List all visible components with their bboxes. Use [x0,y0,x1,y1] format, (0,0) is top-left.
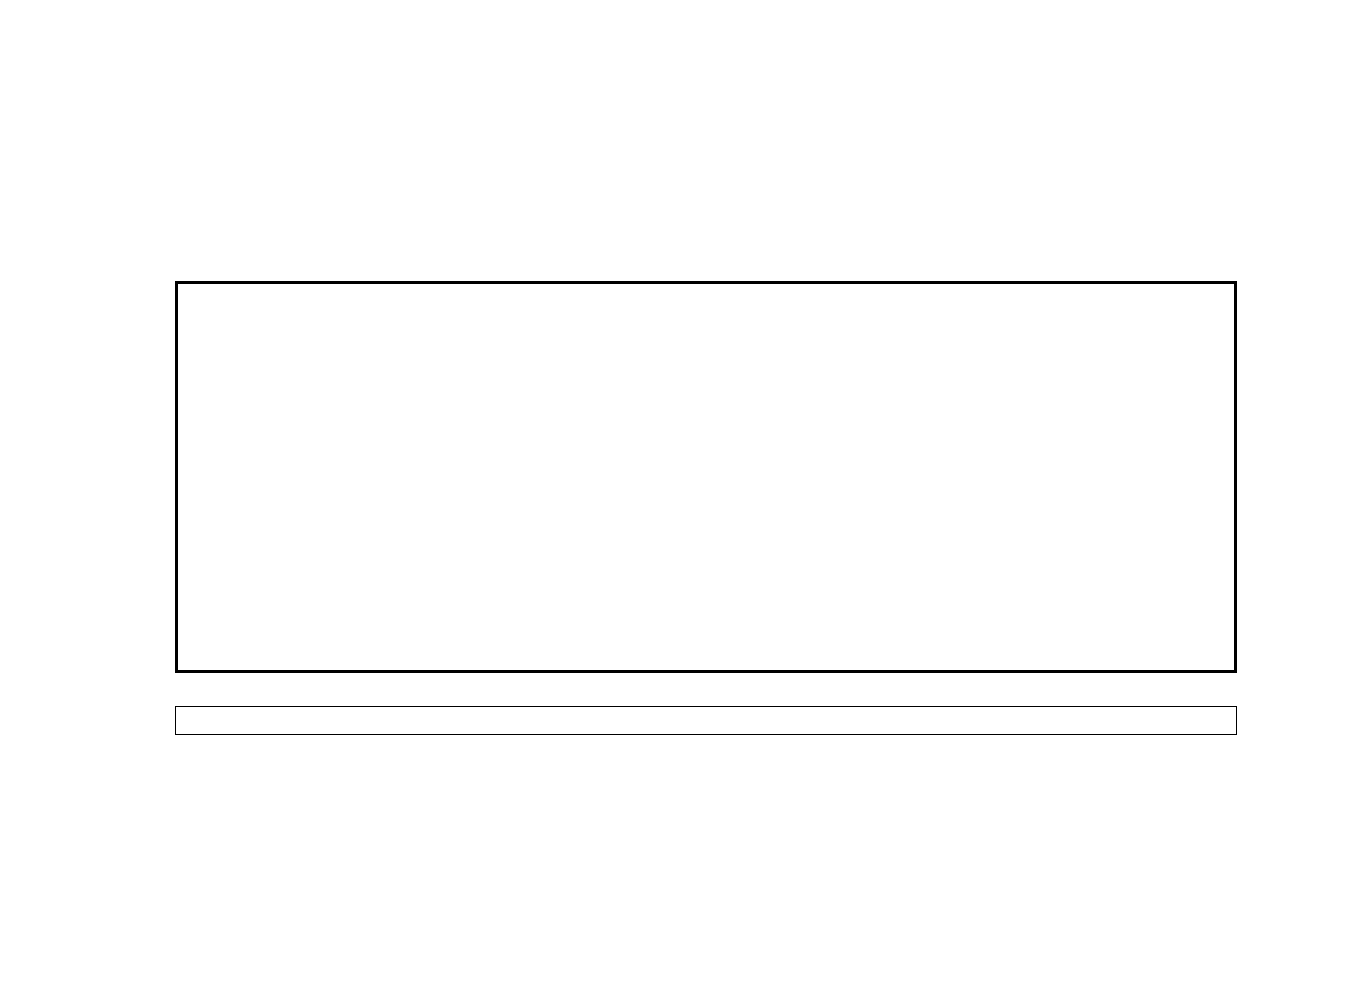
map-axes[interactable] [175,281,1237,673]
figure-root [0,0,1356,1000]
colorbar-gradient [175,706,1237,735]
colorbar[interactable] [175,706,1237,735]
sst-gradient-heatmap[interactable] [178,284,1234,670]
